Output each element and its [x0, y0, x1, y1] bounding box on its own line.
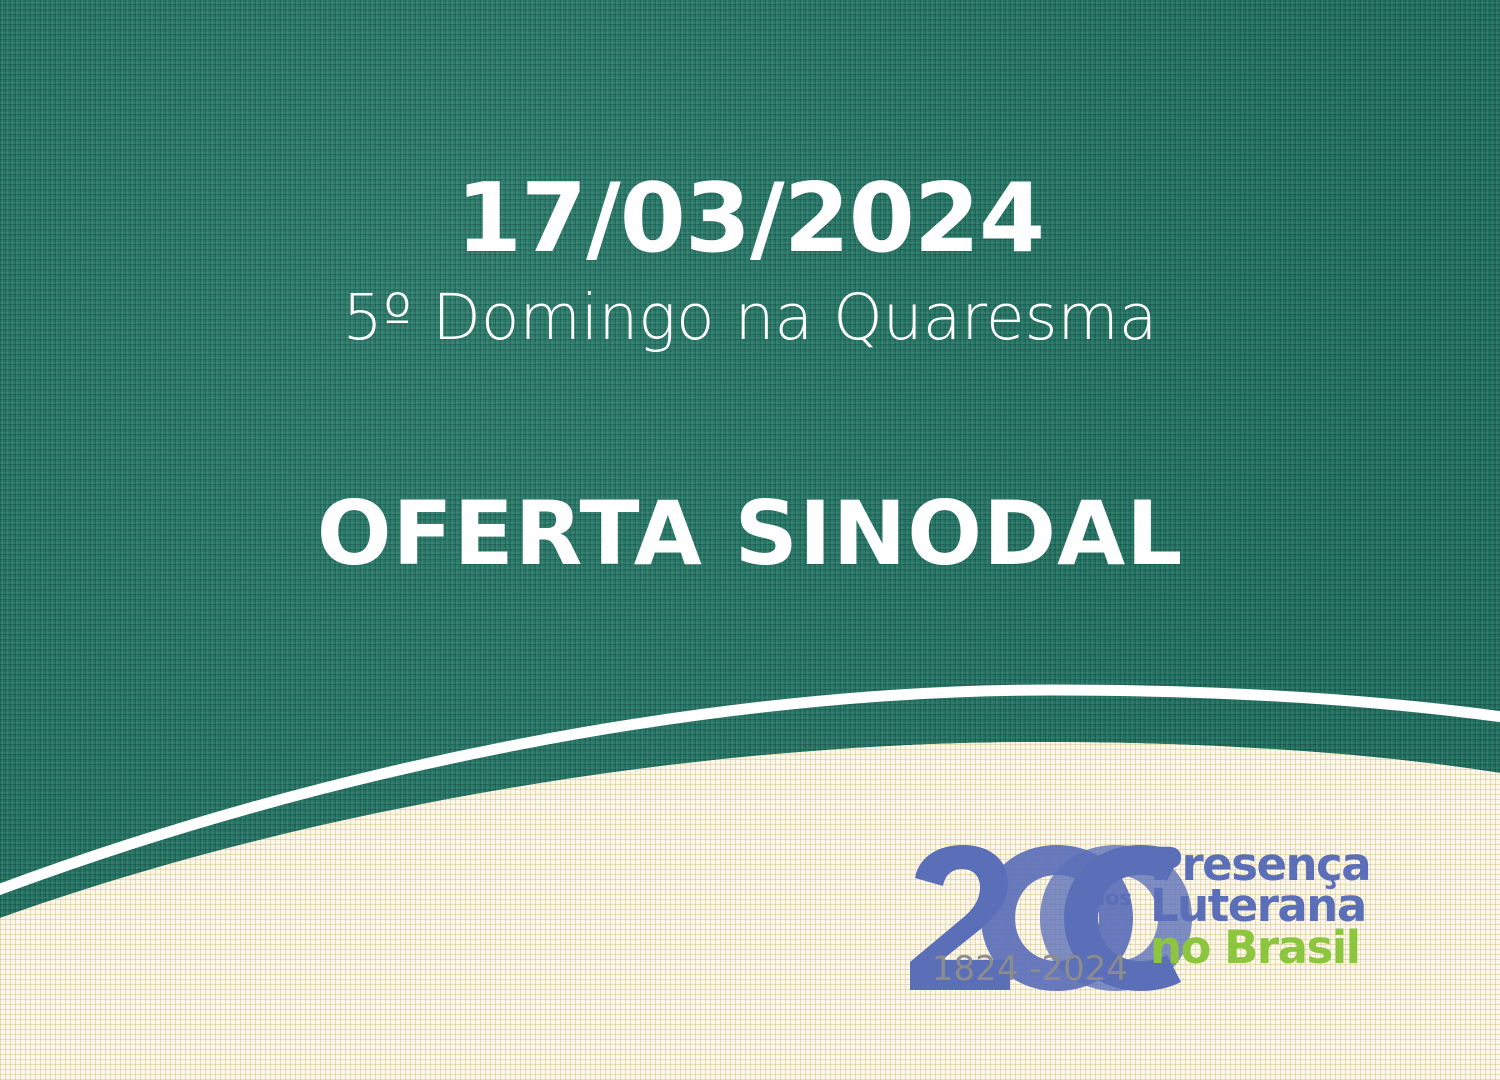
- logo-wordmark: Presença Luterana no Brasil: [1150, 844, 1440, 968]
- logo-years-range: 1824 -2024: [919, 952, 1141, 986]
- liturgical-day-label: 5º Domingo na Quaresma: [0, 286, 1500, 349]
- poster-title: OFERTA SINODAL: [0, 490, 1500, 578]
- event-date: 17/03/2024: [0, 172, 1500, 267]
- presenca-luterana-logo: anos 1824 -2024 Presença Luterana no Bra…: [905, 840, 1435, 1010]
- logo-anos-label: anos: [1076, 888, 1132, 909]
- logo-word-no-brasil: no Brasil: [1150, 927, 1440, 968]
- poster-canvas: 17/03/2024 5º Domingo na Quaresma OFERTA…: [0, 0, 1500, 1080]
